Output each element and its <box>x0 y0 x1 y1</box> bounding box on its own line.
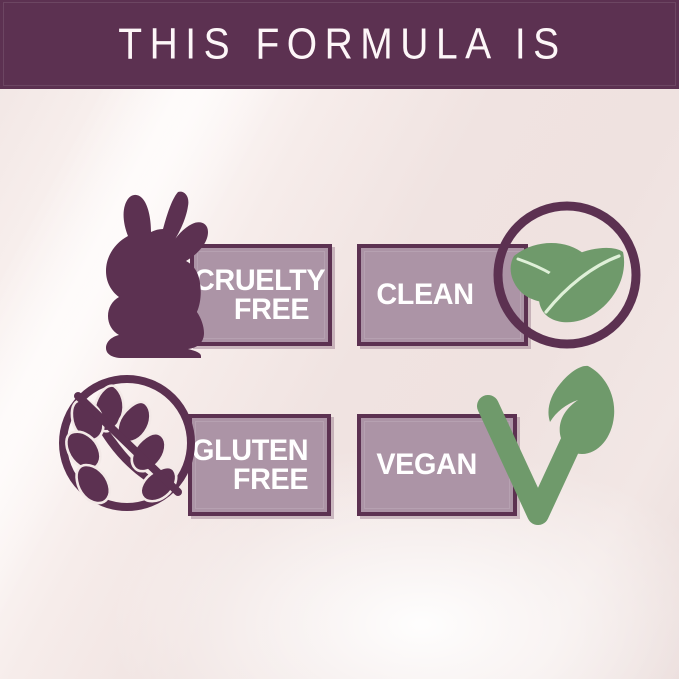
badge-label-clean: CLEAN <box>361 280 474 309</box>
badge-label-cruelty-free: CRUELTY FREE <box>194 266 323 325</box>
badge-gluten-free[interactable]: GLUTEN FREE <box>188 414 331 516</box>
badge-cruelty-free[interactable]: CRUELTY FREE <box>190 244 332 346</box>
badge-label-line-2: FREE <box>194 295 309 324</box>
background-light-streak <box>0 0 679 679</box>
badge-clean[interactable]: CLEAN <box>357 244 528 346</box>
badge-label-gluten-free: GLUTEN FREE <box>192 436 322 495</box>
badge-label-vegan: VEGAN <box>361 450 477 479</box>
badge-label-line-2: FREE <box>192 465 308 494</box>
badge-label-line-1: GLUTEN <box>192 436 308 465</box>
badge-vegan[interactable]: VEGAN <box>357 414 517 516</box>
badge-label-line-1: CRUELTY <box>194 266 309 295</box>
infographic-canvas: THIS FORMULA IS CRUELTY FREE CLEAN GLUTE… <box>0 0 679 679</box>
header-banner: THIS FORMULA IS <box>0 0 679 89</box>
page-title: THIS FORMULA IS <box>112 23 566 67</box>
